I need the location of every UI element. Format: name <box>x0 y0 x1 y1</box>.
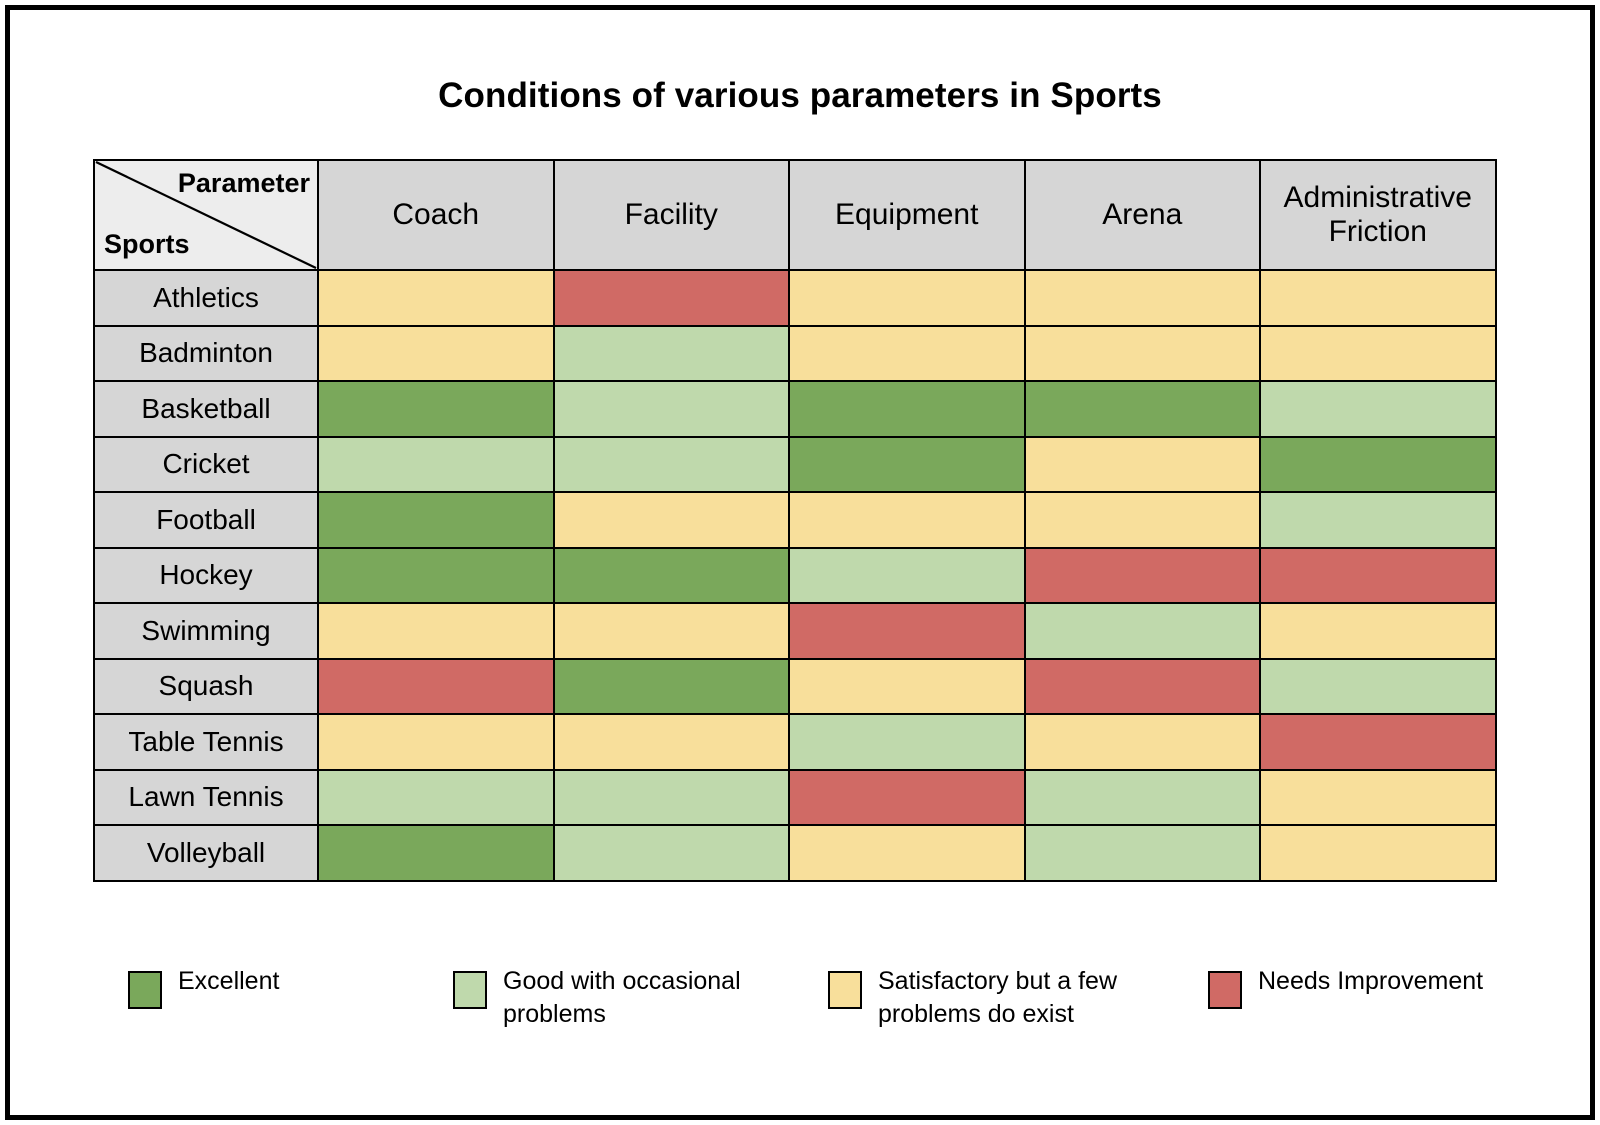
table-row: Lawn Tennis <box>94 770 1496 826</box>
row-header-volleyball: Volleyball <box>94 825 318 881</box>
cell-table-tennis-administrative-friction <box>1260 714 1496 770</box>
cell-football-facility <box>554 492 790 548</box>
row-header-basketball: Basketball <box>94 381 318 437</box>
cell-cricket-facility <box>554 437 790 493</box>
cell-lawn-tennis-administrative-friction <box>1260 770 1496 826</box>
cell-basketball-coach <box>318 381 554 437</box>
row-header-squash: Squash <box>94 659 318 715</box>
row-axis-label: Sports <box>104 231 190 258</box>
cell-lawn-tennis-coach <box>318 770 554 826</box>
column-header-coach: Coach <box>318 160 554 270</box>
cell-lawn-tennis-facility <box>554 770 790 826</box>
column-header-arena: Arena <box>1025 160 1261 270</box>
cell-athletics-coach <box>318 270 554 326</box>
row-header-athletics: Athletics <box>94 270 318 326</box>
cell-volleyball-administrative-friction <box>1260 825 1496 881</box>
cell-swimming-arena <box>1025 603 1261 659</box>
page-title: Conditions of various parameters in Spor… <box>10 76 1590 116</box>
cell-basketball-equipment <box>789 381 1025 437</box>
cell-squash-coach <box>318 659 554 715</box>
legend-swatch-good <box>453 971 487 1009</box>
cell-table-tennis-arena <box>1025 714 1261 770</box>
column-header-facility: Facility <box>554 160 790 270</box>
cell-hockey-administrative-friction <box>1260 548 1496 604</box>
cell-squash-equipment <box>789 659 1025 715</box>
cell-hockey-arena <box>1025 548 1261 604</box>
cell-hockey-facility <box>554 548 790 604</box>
legend-swatch-excellent <box>128 971 162 1009</box>
cell-cricket-arena <box>1025 437 1261 493</box>
row-header-swimming: Swimming <box>94 603 318 659</box>
table-row: Hockey <box>94 548 1496 604</box>
legend-label-good: Good with occasional problems <box>503 965 773 1031</box>
cell-cricket-administrative-friction <box>1260 437 1496 493</box>
row-header-cricket: Cricket <box>94 437 318 493</box>
legend-swatch-needs-improvement <box>1208 971 1242 1009</box>
row-header-lawn-tennis: Lawn Tennis <box>94 770 318 826</box>
legend-item-excellent: Excellent <box>128 965 453 1009</box>
cell-swimming-equipment <box>789 603 1025 659</box>
table-row: Swimming <box>94 603 1496 659</box>
cell-swimming-coach <box>318 603 554 659</box>
cell-swimming-facility <box>554 603 790 659</box>
conditions-matrix-table: Parameter Sports Coach Facility Equipmen… <box>93 159 1497 882</box>
cell-volleyball-coach <box>318 825 554 881</box>
row-header-table-tennis: Table Tennis <box>94 714 318 770</box>
cell-table-tennis-coach <box>318 714 554 770</box>
cell-lawn-tennis-equipment <box>789 770 1025 826</box>
cell-lawn-tennis-arena <box>1025 770 1261 826</box>
cell-badminton-arena <box>1025 326 1261 382</box>
cell-volleyball-arena <box>1025 825 1261 881</box>
cell-cricket-equipment <box>789 437 1025 493</box>
cell-squash-administrative-friction <box>1260 659 1496 715</box>
cell-volleyball-facility <box>554 825 790 881</box>
column-header-administrative-friction: Administrative Friction <box>1260 160 1496 270</box>
cell-athletics-equipment <box>789 270 1025 326</box>
legend-item-needs-improvement: Needs Improvement <box>1208 965 1488 1009</box>
legend-label-satisfactory: Satisfactory but a few problems do exist <box>878 965 1148 1031</box>
cell-badminton-equipment <box>789 326 1025 382</box>
cell-badminton-administrative-friction <box>1260 326 1496 382</box>
cell-badminton-facility <box>554 326 790 382</box>
table-row: Football <box>94 492 1496 548</box>
cell-football-administrative-friction <box>1260 492 1496 548</box>
cell-basketball-arena <box>1025 381 1261 437</box>
table-row: Athletics <box>94 270 1496 326</box>
table-header-row: Parameter Sports Coach Facility Equipmen… <box>94 160 1496 270</box>
column-axis-label: Parameter <box>178 170 310 197</box>
cell-football-equipment <box>789 492 1025 548</box>
legend: Excellent Good with occasional problems … <box>93 965 1513 1031</box>
column-header-equipment: Equipment <box>789 160 1025 270</box>
cell-volleyball-equipment <box>789 825 1025 881</box>
cell-athletics-arena <box>1025 270 1261 326</box>
cell-table-tennis-facility <box>554 714 790 770</box>
cell-hockey-coach <box>318 548 554 604</box>
cell-squash-arena <box>1025 659 1261 715</box>
cell-athletics-facility <box>554 270 790 326</box>
legend-label-excellent: Excellent <box>178 965 279 998</box>
table-row: Basketball <box>94 381 1496 437</box>
cell-squash-facility <box>554 659 790 715</box>
table-row: Volleyball <box>94 825 1496 881</box>
corner-axis-cell: Parameter Sports <box>94 160 318 270</box>
row-header-badminton: Badminton <box>94 326 318 382</box>
table-body: AthleticsBadmintonBasketballCricketFootb… <box>94 270 1496 881</box>
cell-athletics-administrative-friction <box>1260 270 1496 326</box>
cell-cricket-coach <box>318 437 554 493</box>
legend-item-good: Good with occasional problems <box>453 965 828 1031</box>
figure-frame: Conditions of various parameters in Spor… <box>5 5 1595 1120</box>
cell-table-tennis-equipment <box>789 714 1025 770</box>
cell-basketball-facility <box>554 381 790 437</box>
table-row: Cricket <box>94 437 1496 493</box>
legend-label-needs-improvement: Needs Improvement <box>1258 965 1483 998</box>
legend-item-satisfactory: Satisfactory but a few problems do exist <box>828 965 1208 1031</box>
row-header-hockey: Hockey <box>94 548 318 604</box>
cell-football-coach <box>318 492 554 548</box>
cell-badminton-coach <box>318 326 554 382</box>
cell-football-arena <box>1025 492 1261 548</box>
legend-swatch-satisfactory <box>828 971 862 1009</box>
cell-swimming-administrative-friction <box>1260 603 1496 659</box>
table-row: Badminton <box>94 326 1496 382</box>
cell-hockey-equipment <box>789 548 1025 604</box>
row-header-football: Football <box>94 492 318 548</box>
table-row: Squash <box>94 659 1496 715</box>
cell-basketball-administrative-friction <box>1260 381 1496 437</box>
table-row: Table Tennis <box>94 714 1496 770</box>
